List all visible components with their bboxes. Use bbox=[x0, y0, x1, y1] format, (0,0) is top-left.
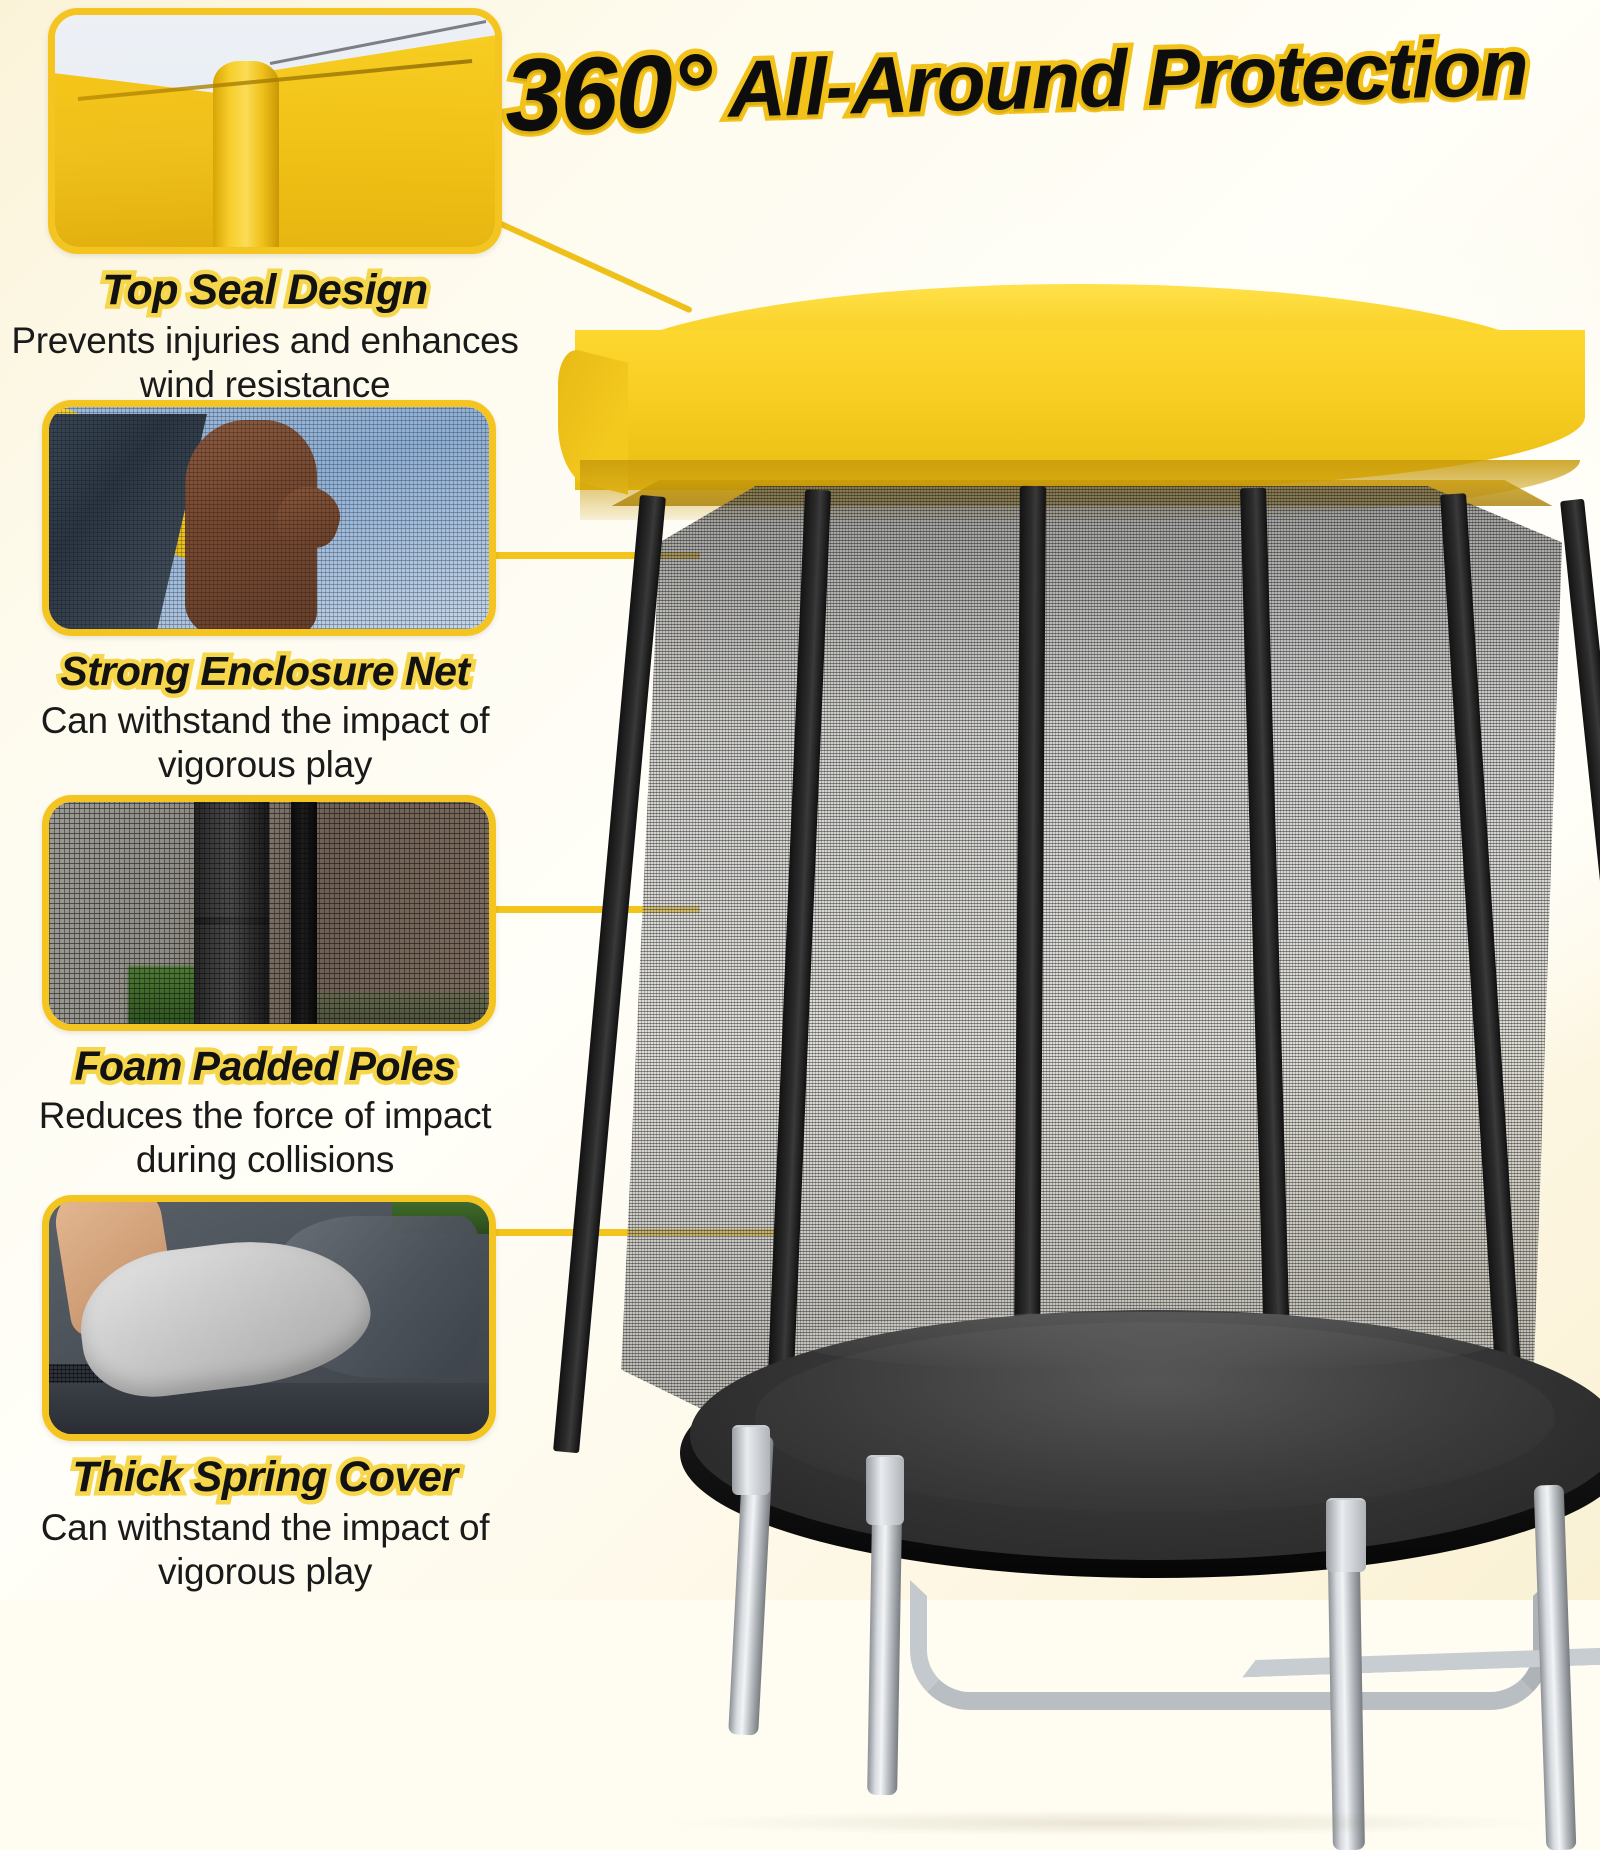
feature-photo-foam-padded-poles bbox=[42, 795, 496, 1031]
feature-title-foam-padded-poles: Foam Padded Poles bbox=[0, 1045, 530, 1088]
mat-highlight bbox=[795, 1312, 1495, 1372]
leg-connector-sleeve bbox=[866, 1455, 904, 1525]
seal-center-seam bbox=[213, 61, 279, 251]
feature-photo-thick-spring-cover bbox=[42, 1195, 496, 1441]
ground-shadow bbox=[660, 1810, 1560, 1836]
product-image-trampoline bbox=[540, 250, 1600, 1600]
feature-title-thick-spring-cover: Thick Spring Cover bbox=[0, 1455, 530, 1500]
feature-description-thick-spring-cover: Can withstand the impact of vigorous pla… bbox=[0, 1506, 530, 1593]
headline-degrees: 360° bbox=[504, 38, 712, 147]
feature-title-top-seal-design: Top Seal Design bbox=[0, 268, 530, 313]
feature-card-strong-enclosure-net: Strong Enclosure Net Can withstand the i… bbox=[0, 400, 530, 786]
leg-connector-sleeve bbox=[1326, 1498, 1366, 1572]
net-mesh-overlay bbox=[49, 407, 489, 629]
feature-card-top-seal-design: Top Seal Design Prevents injuries and en… bbox=[0, 8, 530, 406]
feature-card-thick-spring-cover: Thick Spring Cover Can withstand the imp… bbox=[0, 1195, 530, 1593]
leg-connector-sleeve bbox=[732, 1425, 770, 1495]
net-mesh-overlay bbox=[49, 802, 489, 1024]
feature-card-foam-padded-poles: Foam Padded Poles Reduces the force of i… bbox=[0, 795, 530, 1181]
feature-photo-top-seal-design bbox=[48, 8, 502, 254]
feature-description-strong-enclosure-net: Can withstand the impact of vigorous pla… bbox=[0, 699, 530, 786]
pad-lower-fold bbox=[49, 1383, 489, 1434]
enclosure-pole bbox=[1560, 499, 1600, 1397]
feature-title-strong-enclosure-net: Strong Enclosure Net bbox=[0, 650, 530, 693]
headline-text: All-Around Protection bbox=[727, 27, 1528, 129]
feature-description-top-seal-design: Prevents injuries and enhances wind resi… bbox=[0, 319, 530, 406]
feature-description-foam-padded-poles: Reduces the force of impact during colli… bbox=[0, 1094, 530, 1181]
enclosure-net bbox=[602, 486, 1562, 1426]
feature-photo-strong-enclosure-net bbox=[42, 400, 496, 636]
page-title: 360° All-Around Protection bbox=[503, 8, 1596, 153]
infographic-canvas: 360° All-Around Protection Top Seal Desi… bbox=[0, 0, 1600, 1600]
steel-leg bbox=[1534, 1485, 1577, 1850]
